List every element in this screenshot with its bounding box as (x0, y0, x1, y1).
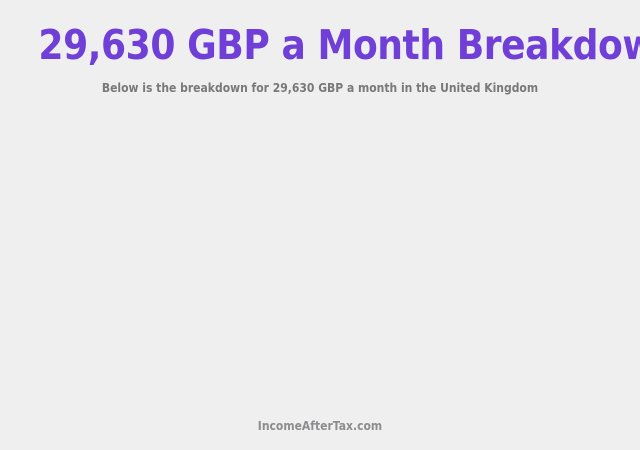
breakdown-page: 29,630 GBP a Month Breakdown Below is th… (0, 0, 640, 450)
page-subtitle: Below is the breakdown for 29,630 GBP a … (32, 68, 608, 96)
page-title: 29,630 GBP a Month Breakdown (38, 0, 601, 68)
site-credit: IncomeAfterTax.com (32, 418, 608, 434)
page-header: 29,630 GBP a Month Breakdown Below is th… (0, 0, 640, 96)
page-footer: IncomeAfterTax.com (0, 418, 640, 434)
breakdown-content-area (0, 124, 640, 404)
